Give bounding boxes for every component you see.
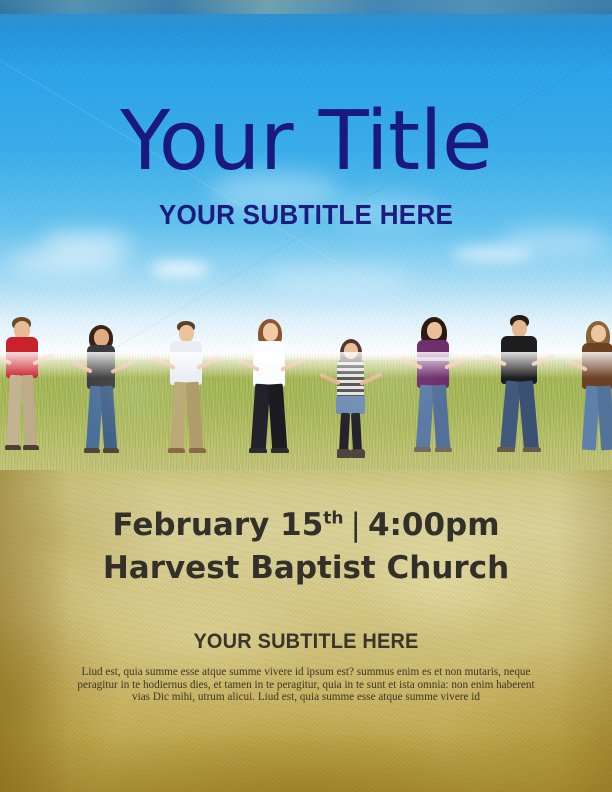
head [512,320,527,337]
shoe [5,445,21,450]
event-time: 4:00pm [368,507,500,543]
flyer-title[interactable]: Your Title [0,100,612,184]
head [591,325,606,342]
person [490,313,548,465]
shoe [414,447,431,452]
head [427,322,442,339]
person [158,315,216,465]
leg [21,375,37,448]
horizon-blend [0,352,612,378]
leg [339,413,350,453]
leg [268,384,288,451]
leg [170,382,188,451]
shoe [189,448,206,453]
flyer-subtitle-bottom[interactable]: YOUR SUBTITLE HERE [15,629,596,655]
shoe [103,448,119,453]
cloud [500,228,608,254]
person [325,325,377,465]
cloud [262,268,412,290]
person [572,315,612,465]
shoe [23,445,39,450]
shoe [497,447,515,452]
leg [351,413,362,453]
shoe [337,449,351,458]
person [240,315,298,465]
head [263,323,278,341]
head [94,329,109,346]
shoe [249,448,267,453]
leg [6,375,22,448]
shoe [523,447,541,452]
shoe [168,448,185,453]
people-photo [0,300,612,465]
event-date: February 15 [112,507,323,543]
person [405,313,461,465]
date-ordinal-suffix: th [323,509,343,529]
shoe [351,449,365,458]
venue-name[interactable]: Harvest Baptist Church [0,549,612,587]
shoe [84,448,100,453]
person [0,313,52,465]
leg [100,386,117,451]
flyer-canvas: Your Title YOUR SUBTITLE HERE February 1… [0,0,612,792]
shoe [435,447,452,452]
flyer-subtitle-top[interactable]: YOUR SUBTITLE HERE [21,199,590,231]
date-time-separator: | [344,507,368,543]
leg [500,380,521,449]
person [75,317,131,465]
leg [251,384,271,451]
flyer-body-copy[interactable]: Liud est, quia summe esse atque summe vi… [68,666,544,704]
cloud [150,262,210,276]
leg [186,382,204,451]
event-date-line[interactable]: February 15th|4:00pm [0,506,612,544]
cloud [8,252,128,272]
shoe [271,448,289,453]
leg [336,396,365,414]
head [179,325,194,342]
cloud [40,232,132,254]
leg [518,380,539,449]
leg [432,385,450,450]
leg [597,386,612,451]
sky-top-haze [0,0,612,26]
